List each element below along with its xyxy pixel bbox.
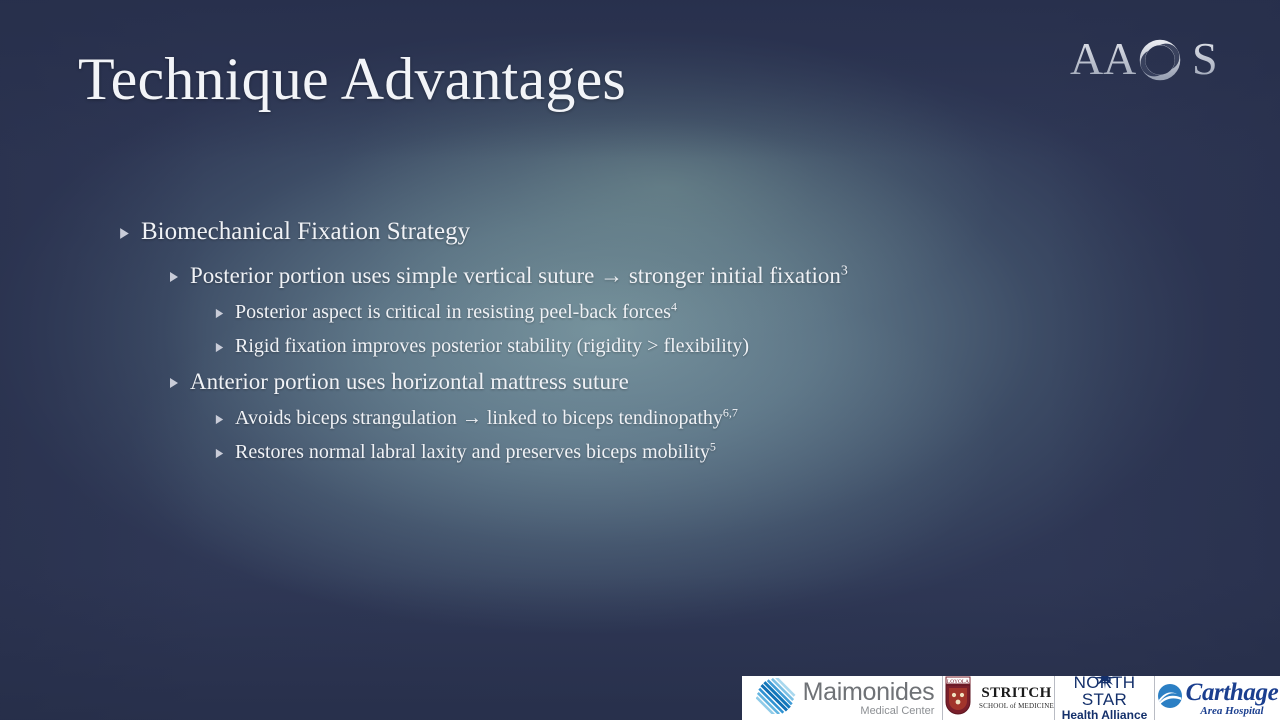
maimonides-name: Maimonides: [803, 680, 935, 705]
bullet-text: Posterior aspect is critical in resistin…: [235, 301, 1220, 324]
slide-body: Biomechanical Fixation Strategy Posterio…: [118, 218, 1220, 475]
logo-loyola-stritch: LOYOLA STRITCH SCHOOL of MEDICINE: [942, 676, 1054, 720]
bullet-level1: Biomechanical Fixation Strategy: [118, 218, 1220, 246]
triangle-right-icon: [118, 227, 131, 240]
svg-text:A: A: [1070, 34, 1103, 84]
triangle-right-icon: [214, 342, 225, 353]
bullet-level3: Avoids biceps strangulation → linked to …: [118, 407, 1220, 430]
carthage-subtitle: Area Hospital: [1186, 706, 1279, 717]
logo-carthage: Carthage Area Hospital: [1154, 676, 1280, 720]
north-star-name: NORTH STAR: [1055, 676, 1154, 708]
carthage-name: Carthage: [1186, 680, 1279, 705]
triangle-right-icon: [168, 271, 180, 283]
bullet-text: Rigid fixation improves posterior stabil…: [235, 335, 1220, 358]
triangle-right-icon: [214, 448, 225, 459]
svg-text:LOYOLA: LOYOLA: [947, 679, 969, 685]
citation-superscript: 3: [841, 262, 848, 277]
bullet-level3: Posterior aspect is critical in resistin…: [118, 301, 1220, 324]
aaos-logo: A A S: [1070, 34, 1230, 86]
logo-maimonides: Maimonides Medical Center: [742, 676, 942, 720]
stritch-name: STRITCH: [979, 686, 1054, 702]
citation-superscript: 4: [671, 299, 677, 313]
stritch-subtitle: SCHOOL of MEDICINE: [979, 703, 1054, 710]
crest-shield-icon: LOYOLA: [943, 676, 973, 720]
bullet-text: Biomechanical Fixation Strategy: [141, 218, 1220, 246]
bullet-text: Avoids biceps strangulation → linked to …: [235, 407, 1220, 430]
swoosh-circle-icon: [1157, 683, 1183, 714]
bullet-text: Anterior portion uses horizontal mattres…: [190, 369, 1220, 395]
svg-text:A: A: [1103, 34, 1136, 84]
institution-logo-strip: Maimonides Medical Center LOYOLA: [742, 676, 1280, 720]
bullet-level2: Anterior portion uses horizontal mattres…: [118, 369, 1220, 395]
citation-superscript: 6,7: [723, 405, 738, 419]
triangle-right-icon: [168, 377, 180, 389]
bullet-text: Posterior portion uses simple vertical s…: [190, 263, 1220, 289]
presentation-slide: Technique Advantages A A S: [0, 0, 1280, 720]
maimonides-subtitle: Medical Center: [803, 706, 935, 717]
diamond-hatch-icon: [756, 678, 796, 719]
bullet-level3: Rigid fixation improves posterior stabil…: [118, 335, 1220, 358]
bullet-level3: Restores normal labral laxity and preser…: [118, 441, 1220, 464]
citation-superscript: 5: [710, 439, 716, 453]
triangle-right-icon: [214, 308, 225, 319]
svg-text:S: S: [1192, 34, 1218, 84]
logo-north-star: NORTH STAR Health Alliance: [1054, 676, 1154, 720]
triangle-right-icon: [214, 414, 225, 425]
bullet-level2: Posterior portion uses simple vertical s…: [118, 263, 1220, 289]
bullet-text: Restores normal labral laxity and preser…: [235, 441, 1220, 464]
north-star-subtitle: Health Alliance: [1055, 709, 1154, 720]
slide-title: Technique Advantages: [78, 48, 626, 111]
